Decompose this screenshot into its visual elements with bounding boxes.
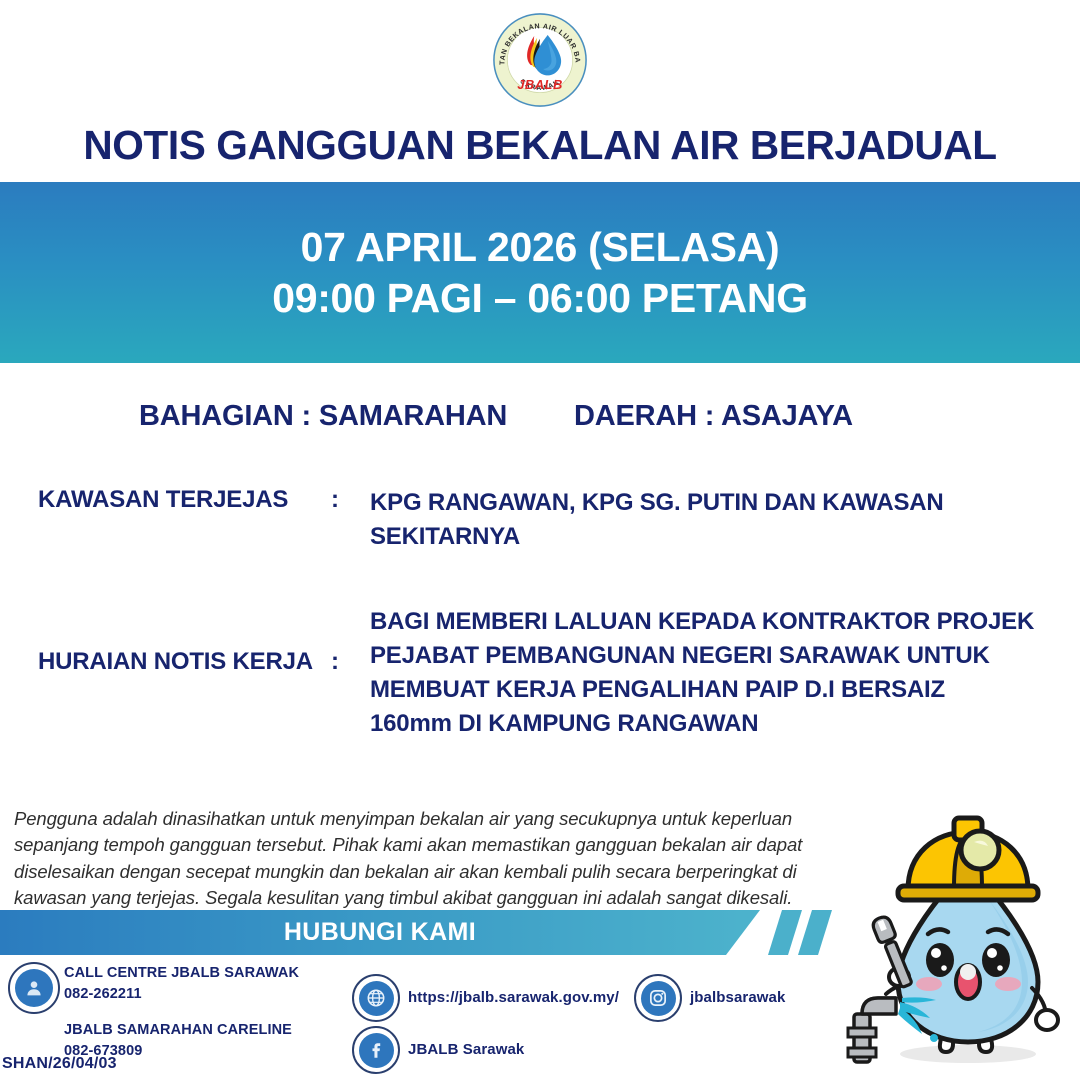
daerah-label: DAERAH : ASAJAYA [574, 400, 853, 433]
contact-banner: HUBUNGI KAMI [0, 910, 830, 955]
work-description-line-3: MEMBUAT KERJA PENGALIHAN PAIP D.I BERSAI… [370, 673, 1030, 707]
affected-area-label: KAWASAN TERJEJAS [38, 486, 288, 514]
affected-area-row: KAWASAN TERJEJAS : KPG RANGAWAN, KPG SG.… [0, 486, 1080, 566]
call-centre-name: CALL CENTRE JBALB SARAWAK [64, 965, 299, 981]
globe-icon[interactable] [352, 974, 400, 1022]
work-description-colon: : [331, 648, 339, 676]
advisory-paragraph: Pengguna adalah dinasihatkan untuk menyi… [14, 806, 804, 911]
water-droplet-mascot [836, 792, 1080, 1078]
work-description-row: HURAIAN NOTIS KERJA : BAGI MEMBERI LALUA… [0, 605, 1080, 765]
affected-area-value: KPG RANGAWAN, KPG SG. PUTIN DAN KAWASAN … [370, 486, 1030, 554]
notice-date: 07 APRIL 2026 (SELASA) [301, 222, 780, 272]
svg-text:JBALB: JBALB [517, 77, 563, 92]
affected-area-line-2: SEKITARNYA [370, 520, 1030, 554]
facebook-handle[interactable]: JBALB Sarawak [408, 1041, 524, 1058]
logo-container: JABATAN BEKALAN AIR LUAR BANDAR SARAWAK … [0, 8, 1080, 112]
affected-area-colon: : [331, 486, 339, 514]
banner-slash-2-icon [798, 910, 832, 955]
work-description-line-1: BAGI MEMBERI LALUAN KEPADA KONTRAKTOR PR… [370, 605, 1030, 639]
contact-banner-title: HUBUNGI KAMI [0, 910, 760, 955]
bahagian-label: BAHAGIAN : SAMARAHAN [139, 400, 507, 433]
region-row: BAHAGIAN : SAMARAHAN DAERAH : ASAJAYA [0, 400, 1080, 444]
page-title: NOTIS GANGGUAN BEKALAN AIR BERJADUAL [5, 122, 1074, 169]
affected-area-line-1: KPG RANGAWAN, KPG SG. PUTIN DAN KAWASAN [370, 486, 1030, 520]
jbalb-sarawak-logo: JABATAN BEKALAN AIR LUAR BANDAR SARAWAK … [492, 12, 588, 108]
banner-slash-1-icon [768, 910, 802, 955]
work-description-line-2: PEJABAT PEMBANGUNAN NEGERI SARAWAK UNTUK [370, 639, 1030, 673]
work-description-line-4: 160mm DI KAMPUNG RANGAWAN [370, 707, 1030, 741]
person-icon [8, 962, 60, 1014]
date-time-band: 07 APRIL 2026 (SELASA) 09:00 PAGI – 06:0… [0, 182, 1080, 363]
website-url[interactable]: https://jbalb.sarawak.gov.my/ [408, 989, 619, 1006]
careline-name: JBALB SAMARAHAN CARELINE [64, 1022, 292, 1038]
instagram-handle[interactable]: jbalbsarawak [690, 989, 785, 1006]
facebook-icon[interactable] [352, 1026, 400, 1074]
reference-code: SHAN/26/04/03 [2, 1055, 117, 1073]
instagram-icon[interactable] [634, 974, 682, 1022]
notice-time: 09:00 PAGI – 06:00 PETANG [272, 273, 808, 323]
work-description-value: BAGI MEMBERI LALUAN KEPADA KONTRAKTOR PR… [370, 605, 1030, 741]
notice-poster: JABATAN BEKALAN AIR LUAR BANDAR SARAWAK … [0, 0, 1080, 1080]
call-centre-phone[interactable]: 082-262211 [64, 986, 142, 1002]
work-description-label: HURAIAN NOTIS KERJA [38, 648, 313, 676]
